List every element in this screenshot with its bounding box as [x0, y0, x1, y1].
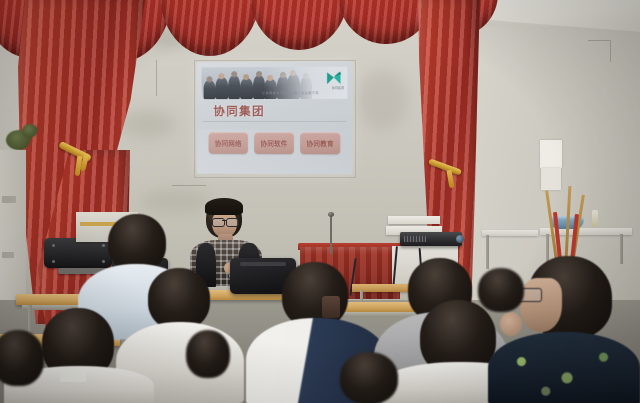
wall-crack: [610, 40, 611, 62]
slide-box: 协同软件: [254, 132, 294, 154]
glasses-bridge: [222, 220, 227, 221]
slide-box-group: 协同网络 协同软件 协同教育: [207, 132, 343, 154]
bottle: [592, 210, 598, 227]
shelf: [388, 216, 440, 224]
wall-stain: [140, 190, 210, 212]
presenter-hair: [205, 198, 243, 215]
audience-head: [0, 330, 44, 386]
slide-tagline: 让协同成为习惯，让每个企业都不同: [262, 90, 319, 95]
projected-slide: 协同集团 让协同成为习惯，让每个企业都不同 协同集团 协同网络 协同软件 协同教…: [197, 62, 353, 175]
wall-stain: [120, 110, 175, 138]
audience-face: [520, 278, 562, 332]
wall-outlet: [2, 196, 16, 203]
slide-box: 协同网络: [208, 132, 248, 154]
wall-notice: [541, 168, 561, 190]
paper: [60, 368, 86, 382]
wall-outlet: [2, 252, 14, 258]
slide-logo-text: 协同集团: [332, 86, 344, 90]
audience-head: [186, 330, 230, 378]
table-leg: [486, 235, 489, 269]
wall-panel-left: [0, 150, 26, 300]
projector-vent: [404, 236, 426, 242]
plant-decoration: [22, 124, 38, 138]
presentation-room-photo: 协同集团 让协同成为习惯，让每个企业都不同 协同集团 协同网络 协同软件 协同教…: [0, 0, 640, 403]
object-on-desk: [322, 296, 340, 318]
audience-head: [340, 352, 398, 403]
slide-box: 协同教育: [300, 132, 340, 154]
audience-shoulders: [488, 332, 640, 403]
wall-notice: [540, 140, 562, 168]
bag-strap: [240, 262, 286, 266]
wall-stain: [150, 30, 190, 48]
table-leg: [620, 234, 623, 264]
audience-head: [148, 268, 210, 330]
audience-hand: [500, 312, 522, 336]
wall-crack: [172, 185, 206, 186]
wall-crack: [156, 60, 157, 96]
chair: [44, 238, 112, 268]
audience-head: [478, 268, 524, 312]
glasses-icon: [226, 218, 239, 227]
slide-title: 协同集团: [213, 103, 265, 119]
company-logo-icon: [325, 71, 342, 86]
microphone-head: [328, 212, 334, 217]
wall-crack: [588, 40, 610, 41]
microphone-stand: [330, 216, 332, 254]
wall-stain: [358, 70, 408, 130]
slide-divider: [203, 121, 347, 122]
utility-table: [482, 230, 538, 236]
projector-lens: [456, 235, 464, 243]
